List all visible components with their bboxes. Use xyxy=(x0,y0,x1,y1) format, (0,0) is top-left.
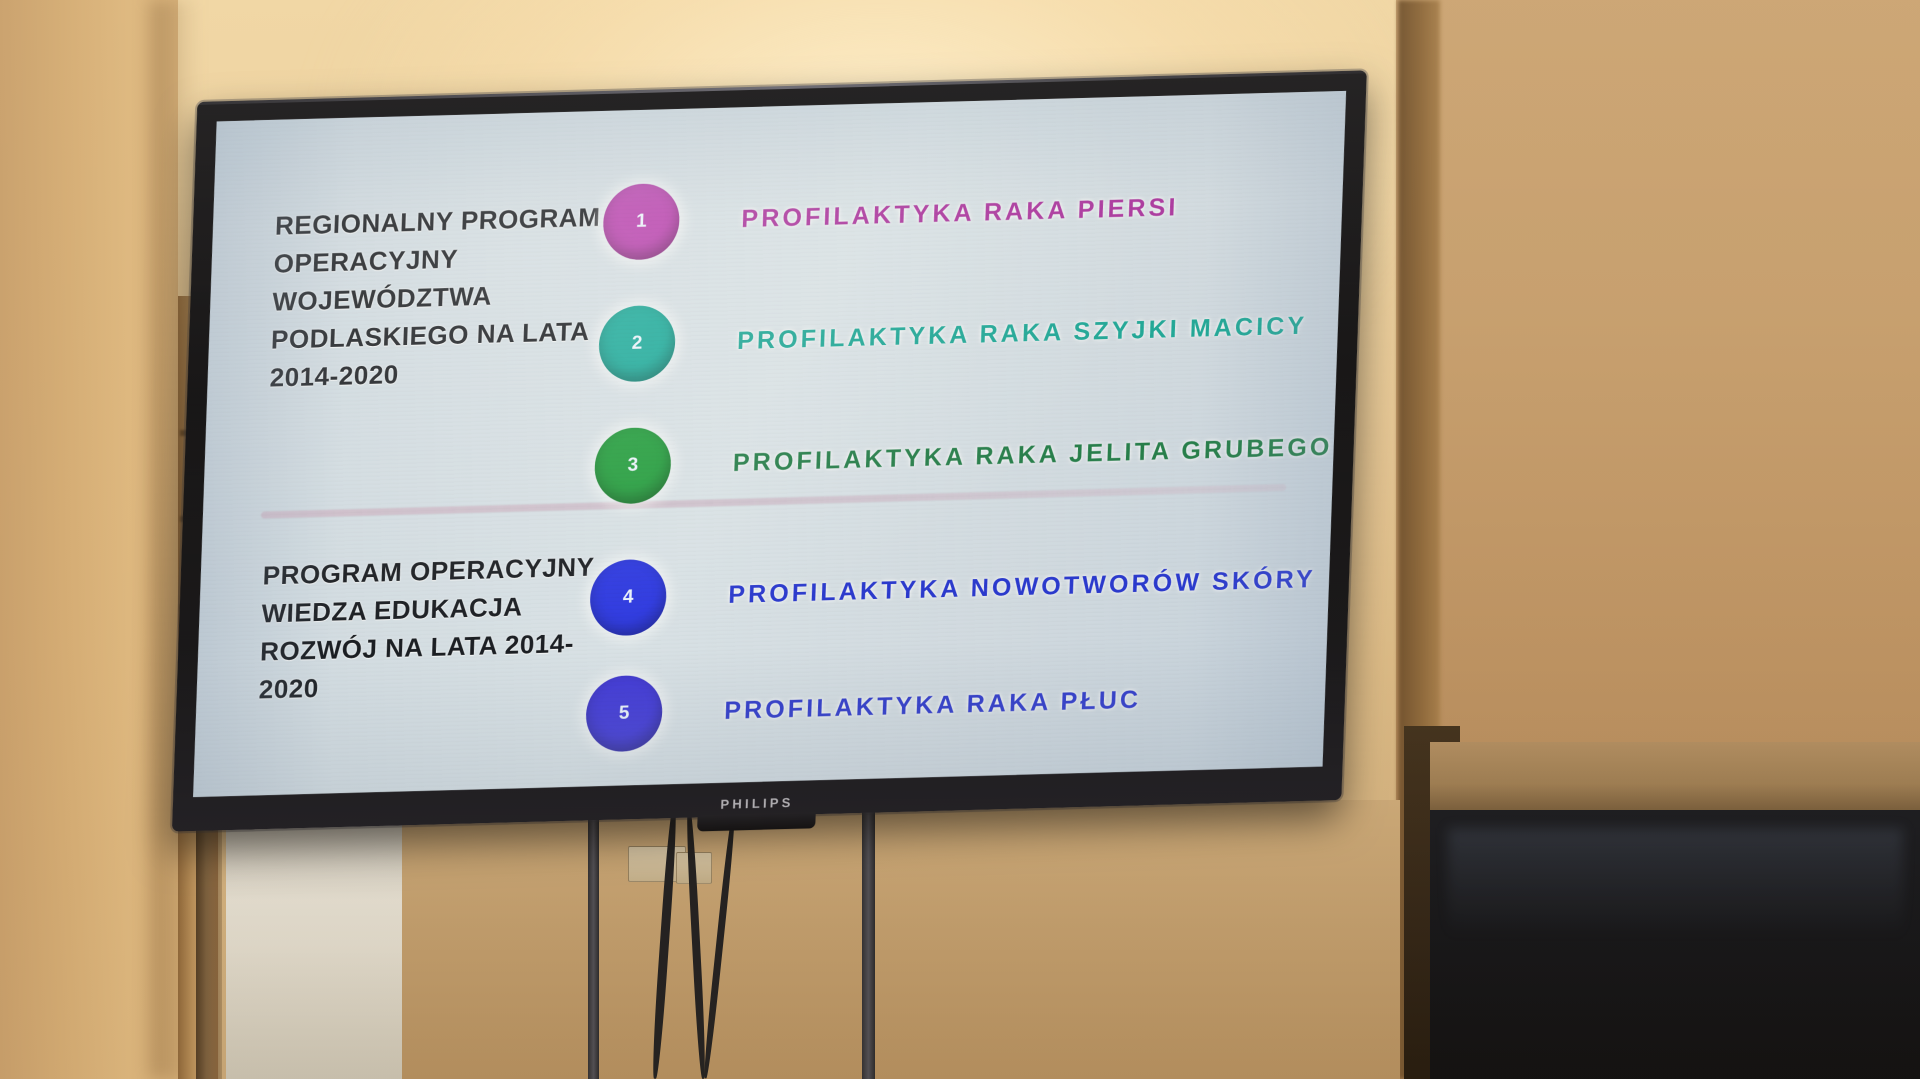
lower-wall xyxy=(400,800,1400,1079)
stand-pole-left xyxy=(588,816,599,1079)
step-number-badge: 2 xyxy=(598,305,677,383)
tv-screen: REGIONALNY PROGRAM OPERACYJNY WOJEWÓDZTW… xyxy=(193,91,1346,797)
tv-stand-foot xyxy=(697,812,816,831)
screening-program-list: 1 PROFILAKTYKA RAKA PIERSI 2 PROFILAKTYK… xyxy=(193,91,1346,797)
list-item: 5 PROFILAKTYKA RAKA PŁUC xyxy=(585,662,1143,753)
list-item: 3 PROFILAKTYKA RAKA JELITA GRUBEGO xyxy=(593,409,1333,505)
step-number-badge: 1 xyxy=(602,183,681,261)
list-item-title: PROFILAKTYKA NOWOTWORÓW SKÓRY xyxy=(728,565,1316,610)
list-item-title: PROFILAKTYKA RAKA PŁUC xyxy=(724,685,1142,725)
list-item: 1 PROFILAKTYKA RAKA PIERSI xyxy=(602,169,1180,261)
list-item-title: PROFILAKTYKA RAKA SZYJKI MACICY xyxy=(737,311,1308,355)
step-number-badge: 5 xyxy=(585,675,664,753)
television: REGIONALNY PROGRAM OPERACYJNY WOJEWÓDZTW… xyxy=(163,86,1376,816)
list-item: 2 PROFILAKTYKA RAKA SZYJKI MACICY xyxy=(598,288,1309,383)
list-item-title: PROFILAKTYKA RAKA PIERSI xyxy=(741,193,1179,234)
presentation-slide: REGIONALNY PROGRAM OPERACYJNY WOJEWÓDZTW… xyxy=(193,91,1346,797)
cabinet-top-surface xyxy=(1430,742,1920,818)
room-photo: REGIONALNY PROGRAM OPERACYJNY WOJEWÓDZTW… xyxy=(0,0,1920,1079)
list-item: 4 PROFILAKTYKA NOWOTWORÓW SKÓRY xyxy=(589,541,1317,637)
philips-logo: PHILIPS xyxy=(720,795,794,812)
stand-pole-right xyxy=(862,812,875,1079)
list-item-title: PROFILAKTYKA RAKA JELITA GRUBEGO xyxy=(732,432,1333,477)
step-number-badge: 3 xyxy=(593,427,672,505)
cabinet-reflection xyxy=(1448,828,1903,938)
step-number-badge: 4 xyxy=(589,559,668,637)
